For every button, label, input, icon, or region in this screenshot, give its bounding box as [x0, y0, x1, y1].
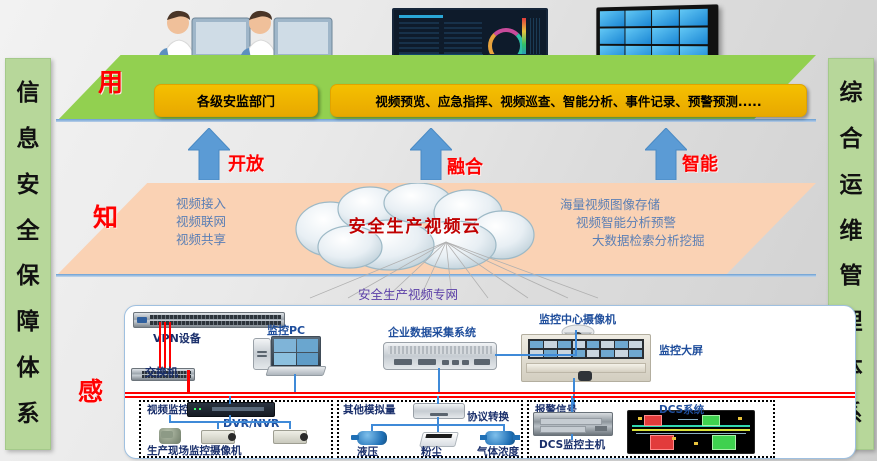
link-collector-to-bus: [438, 368, 440, 394]
label-other-analog: 其他模拟量: [343, 402, 396, 417]
capability-item: 视频智能分析预警: [576, 214, 705, 232]
box-application-functions[interactable]: 视频预览、应急指挥、视频巡查、智能分析、事件记录、预警预测.....: [330, 84, 807, 117]
cloud-left-capabilities: 视频接入 视频联网 视频共享: [152, 195, 226, 249]
vpn-switch-link: [164, 322, 166, 370]
use-layer-edge: [56, 119, 816, 122]
label-enterprise-data-collection: 企业数据采集系统: [388, 324, 476, 340]
link-cam2: [217, 421, 219, 429]
capability-item: 视频共享: [152, 231, 226, 249]
red-bus-line-upper: [125, 392, 855, 394]
left-panel-char: 息: [17, 128, 40, 151]
link-pc-to-bus: [294, 374, 296, 394]
label-video-private-network: 安全生产视频专网: [358, 284, 458, 303]
link-dcs-to-bus: [571, 396, 573, 412]
link-dvr-to-bus: [229, 396, 231, 404]
left-panel-char: 信: [17, 82, 40, 105]
label-dvr-nvr: DVR/NVR: [223, 417, 279, 430]
stage-label-use: 用: [98, 63, 123, 99]
arrow-label-intelligent: 智能: [682, 150, 718, 176]
label-site-cameras: 生产现场监控摄像机: [147, 443, 242, 458]
right-panel-char: 合: [840, 128, 863, 151]
box-safety-supervision-departments[interactable]: 各级安监部门: [154, 84, 318, 117]
pc-tower-illustration: [253, 338, 271, 370]
link-converter-to-bus: [437, 396, 439, 404]
label-gas-concentration: 气体浓度: [477, 444, 519, 459]
red-bus-line-lower: [125, 396, 855, 398]
dvr-nvr-illustration: [187, 402, 275, 417]
switch-to-bus-link: [187, 370, 190, 394]
label-dust: 粉尘: [421, 444, 442, 459]
box-camera-illustration: [201, 430, 235, 444]
capability-item: 视频联网: [164, 213, 226, 231]
dcs-host-illustration: [533, 412, 613, 436]
box-camera-illustration-2: [273, 430, 307, 444]
label-center-camera: 监控中心摄像机: [539, 311, 616, 327]
right-panel-char: 综: [840, 82, 863, 105]
vpn-switch-link: [159, 322, 161, 370]
vpn-switch-link: [169, 322, 171, 370]
link-cam3: [289, 421, 291, 429]
hydraulic-sensor-illustration: [357, 431, 387, 445]
capability-item: 大数据检索分析挖掘: [592, 232, 705, 250]
control-room-illustration: [521, 334, 651, 382]
label-protocol-conversion: 协议转换: [467, 409, 509, 424]
ptz-camera-illustration: [159, 428, 181, 444]
right-panel-char: 维: [840, 220, 863, 243]
link-sensor2: [437, 424, 439, 432]
stage-label-know: 知: [93, 198, 118, 234]
left-panel-char: 全: [17, 220, 40, 243]
gas-sensor-illustration: [485, 431, 515, 445]
link-cam1: [169, 415, 171, 423]
left-panel-char: 安: [17, 174, 40, 197]
label-monitor-wall: 监控大屏: [659, 342, 703, 358]
arrow-label-open: 开放: [228, 150, 264, 176]
data-collection-server-illustration: [383, 342, 497, 370]
label-hydraulic: 液压: [357, 444, 378, 459]
capability-item: 海量视频图像存储: [560, 196, 705, 214]
left-side-panel-information-security: 信 息 安 全 保 障 体 系: [5, 58, 51, 450]
arrow-up-open-icon: [188, 128, 230, 180]
label-dcs-system: DCS系统: [659, 402, 704, 417]
arrow-label-fusion: 融合: [447, 153, 483, 179]
keyboard-illustration: [265, 366, 326, 376]
left-panel-char: 保: [17, 265, 40, 288]
link-dvr-down: [229, 415, 231, 423]
arrow-up-intelligent-icon: [645, 128, 687, 180]
label-video-surveillance: 视频监控: [147, 402, 189, 417]
architecture-diagram: 信 息 安 全 保 障 体 系 综 合 运 维 管 理 体 系: [0, 0, 877, 461]
link-collector-to-camera: [495, 354, 577, 356]
vpn-device-illustration: [133, 312, 285, 328]
cloud-label-video-cloud: 安全生产视频云: [310, 212, 520, 237]
capability-item: 视频接入: [176, 195, 226, 213]
pc-monitor-illustration: [271, 336, 321, 368]
link-camera-vertical: [575, 330, 577, 356]
stage-label-sense: 感: [78, 372, 103, 408]
left-panel-char: 体: [17, 357, 40, 380]
infrastructure-panel: VPN设备 交换机 监控PC: [124, 305, 856, 459]
label-switch: 交换机: [145, 364, 178, 380]
label-monitor-pc: 监控PC: [267, 322, 305, 338]
right-panel-char: 管: [840, 265, 863, 288]
link-dcs-down: [571, 434, 573, 440]
protocol-converter-illustration: [413, 403, 465, 419]
arrow-up-fusion-icon: [410, 128, 452, 180]
left-panel-char: 障: [17, 311, 40, 334]
right-panel-char: 运: [840, 174, 863, 197]
left-panel-char: 系: [17, 403, 40, 426]
